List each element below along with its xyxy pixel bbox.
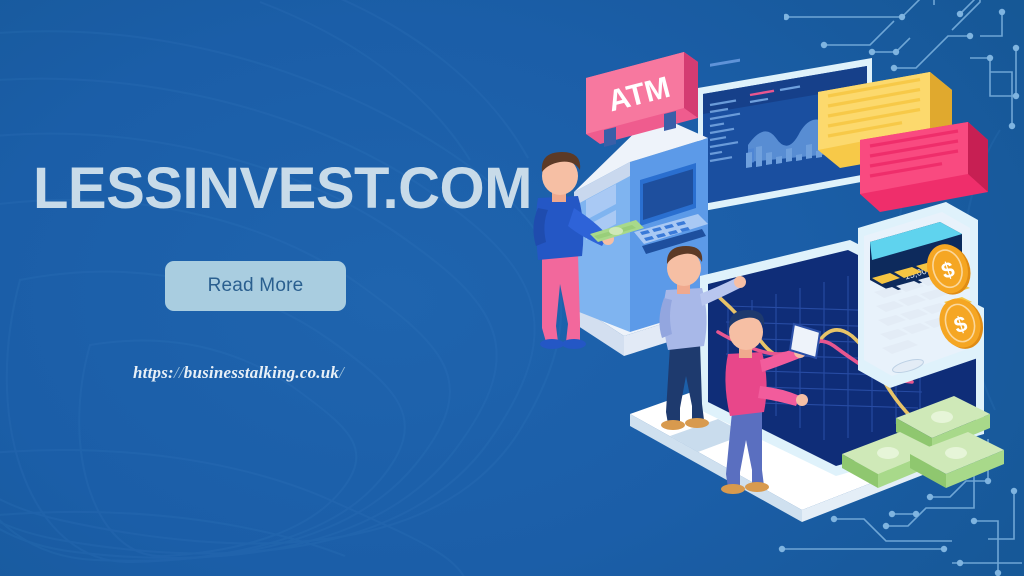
fintech-isometric-illustration: ATM — [512, 40, 1024, 540]
url-separator: // — [174, 363, 184, 382]
hero-text-block: LESSINVEST.COM Read More https://busines… — [0, 0, 560, 576]
site-url: https://businesstalking.co.uk/ — [133, 363, 344, 383]
hero-banner: LESSINVEST.COM Read More https://busines… — [0, 0, 1024, 576]
url-domain: businesstalking.co.uk — [184, 363, 339, 382]
read-more-button[interactable]: Read More — [165, 261, 346, 311]
page-title: LESSINVEST.COM — [33, 160, 532, 218]
url-trailing-slash: / — [339, 363, 344, 382]
calculator-illustration: 15,000 — [858, 202, 978, 388]
url-scheme: https: — [133, 363, 174, 382]
